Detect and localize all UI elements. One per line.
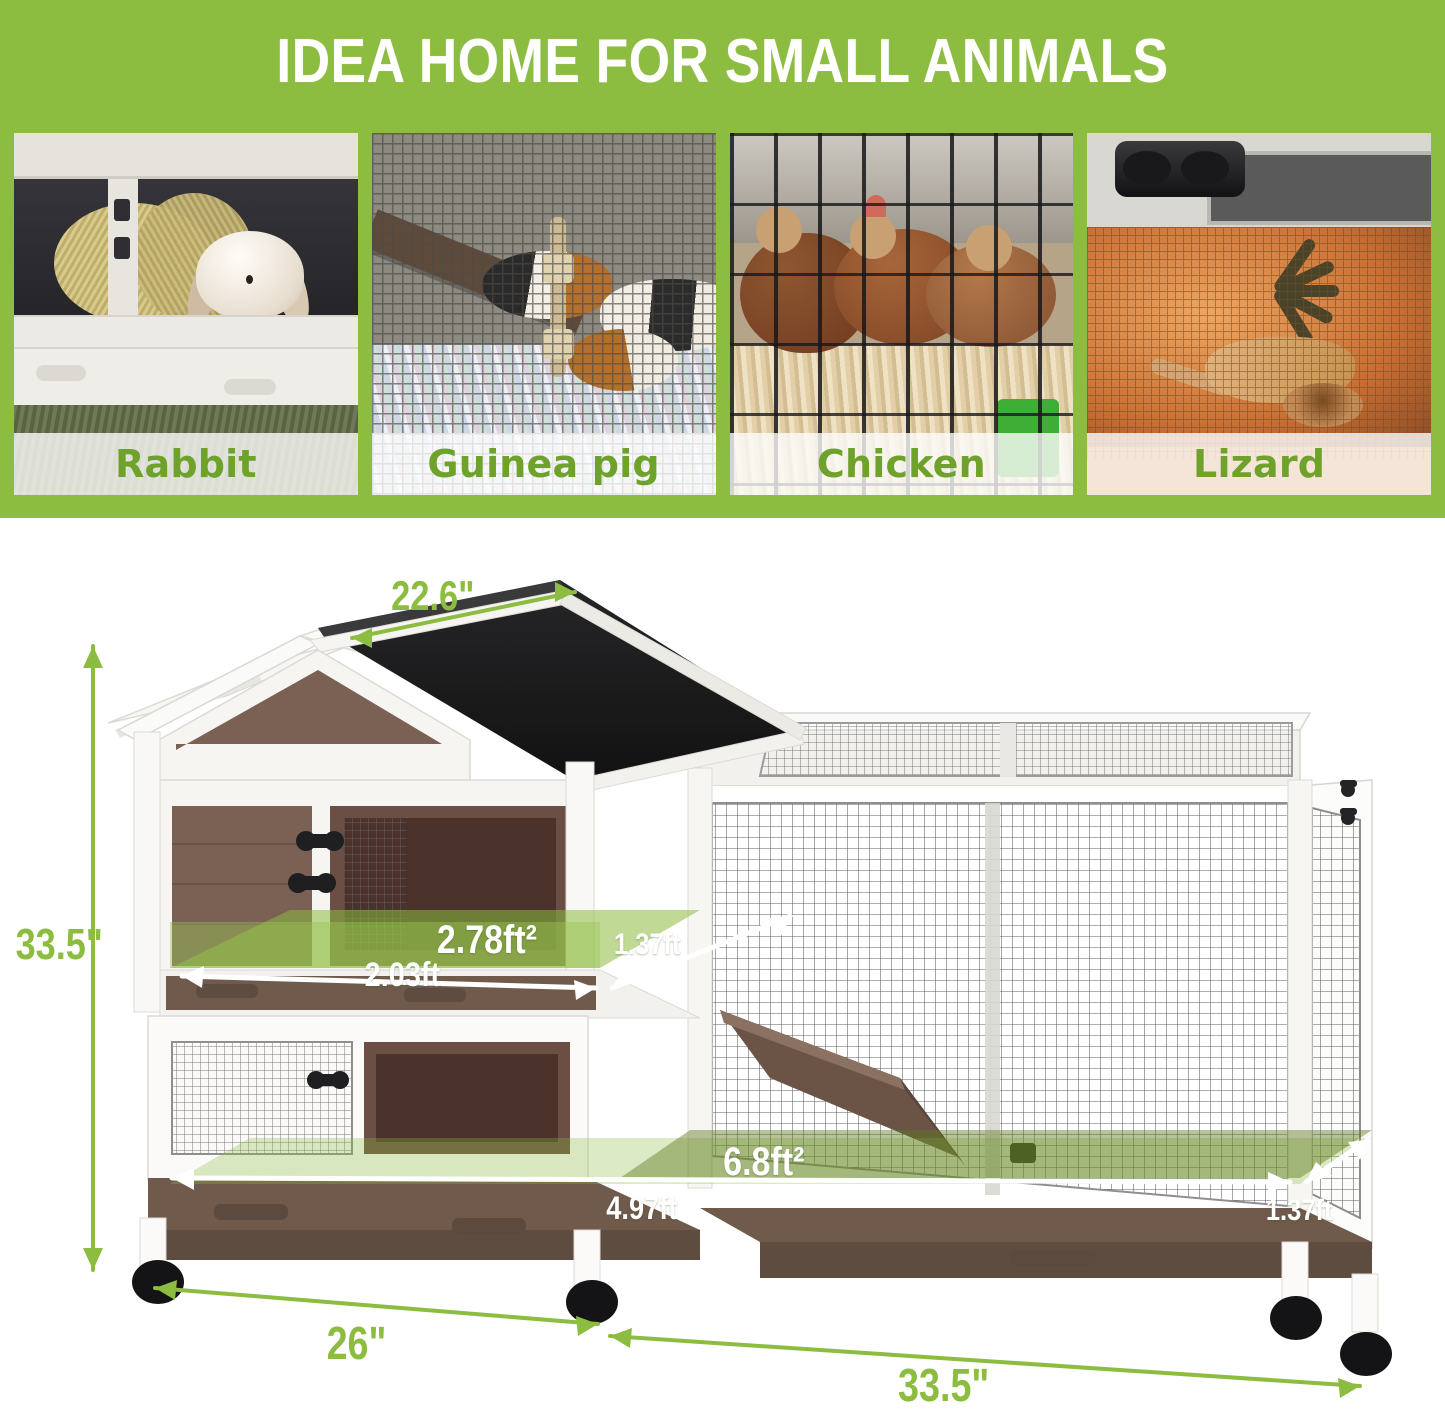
photo-card-lizard[interactable]: Lizard (1087, 133, 1431, 495)
dimension-upper-width: 2.03ft (365, 956, 441, 995)
product-illustration (0, 518, 1445, 1416)
area-label-lower: 6.8ft² (723, 1140, 804, 1185)
dimension-lower-width: 4.97ft (606, 1190, 677, 1227)
header-banner: IDEA HOME FOR SMALL ANIMALS (0, 0, 1445, 518)
product-dimension-diagram: 22.6" 33.5" 26" 33.5" 2.78ft² 2.03ft 1.3… (0, 518, 1445, 1416)
pet-photo-strip: Rabbit Guinea pig (14, 133, 1431, 495)
photo-label-chicken: Chicken (730, 433, 1074, 495)
photo-card-rabbit[interactable]: Rabbit (14, 133, 358, 495)
photo-card-guinea-pig[interactable]: Guinea pig (372, 133, 716, 495)
dimension-upper-depth: 1.37ft (614, 928, 681, 962)
dimension-total-length: 33.5" (898, 1358, 989, 1412)
photo-label-lizard: Lizard (1087, 433, 1431, 495)
infographic-page: IDEA HOME FOR SMALL ANIMALS (0, 0, 1445, 1416)
photo-label-rabbit: Rabbit (14, 433, 358, 495)
dimension-total-height: 33.5" (16, 920, 103, 970)
dimension-lower-depth: 1.37ft (1266, 1194, 1333, 1228)
photo-label-guinea-pig: Guinea pig (372, 433, 716, 495)
dimension-roof-depth: 22.6" (391, 572, 474, 620)
page-title: IDEA HOME FOR SMALL ANIMALS (101, 26, 1344, 97)
area-label-upper: 2.78ft² (437, 918, 537, 963)
photo-card-chicken[interactable]: Chicken (730, 133, 1074, 495)
dimension-hutch-width: 26" (327, 1316, 387, 1370)
